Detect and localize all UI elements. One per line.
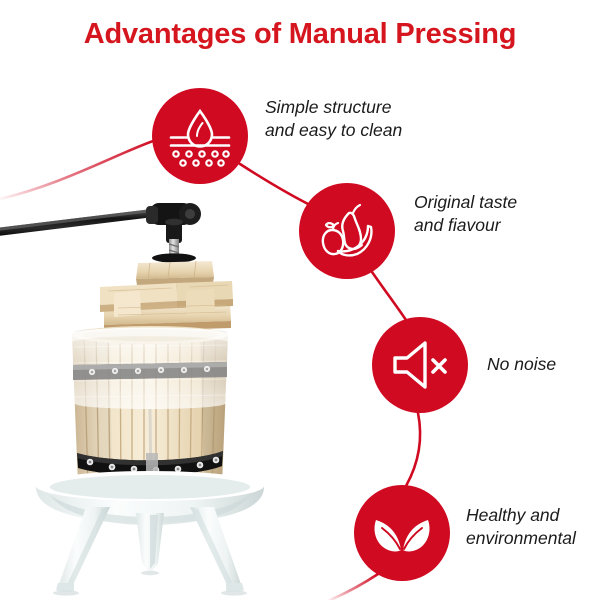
lever-handle-bar <box>0 209 154 236</box>
feature-circle-original-taste[interactable] <box>299 183 395 279</box>
leaves-eco-icon <box>368 503 436 563</box>
feature-label-no-noise: No noise <box>487 353 556 376</box>
feature-label-original-taste: Original taste and fiavour <box>414 191 517 238</box>
connector-2-3 <box>372 272 406 320</box>
product-image-manual-fruit-press <box>0 195 300 600</box>
pressing-plate <box>136 261 214 285</box>
connector-tail-left <box>0 140 156 200</box>
speaker-mute-icon <box>389 334 451 396</box>
feature-circle-simple-structure[interactable] <box>152 88 248 184</box>
upper-metal-band <box>73 362 227 380</box>
page-title: Advantages of Manual Pressing <box>0 18 600 51</box>
water-drop-filter-icon <box>167 103 233 169</box>
tripod-stand <box>53 507 247 596</box>
feature-label-simple-structure: Simple structure and easy to clean <box>265 96 402 143</box>
feature-circle-healthy-environmental[interactable] <box>354 485 450 581</box>
infographic-canvas: Advantages of Manual Pressing <box>0 0 600 600</box>
wooden-blocks <box>100 281 233 332</box>
ratchet-head <box>146 203 201 243</box>
fruits-icon <box>313 197 381 265</box>
feature-circle-no-noise[interactable] <box>372 317 468 413</box>
connector-tail-bottom <box>326 574 378 600</box>
feature-label-healthy-environmental: Healthy and environmental <box>466 504 576 551</box>
connector-3-4 <box>406 413 420 486</box>
